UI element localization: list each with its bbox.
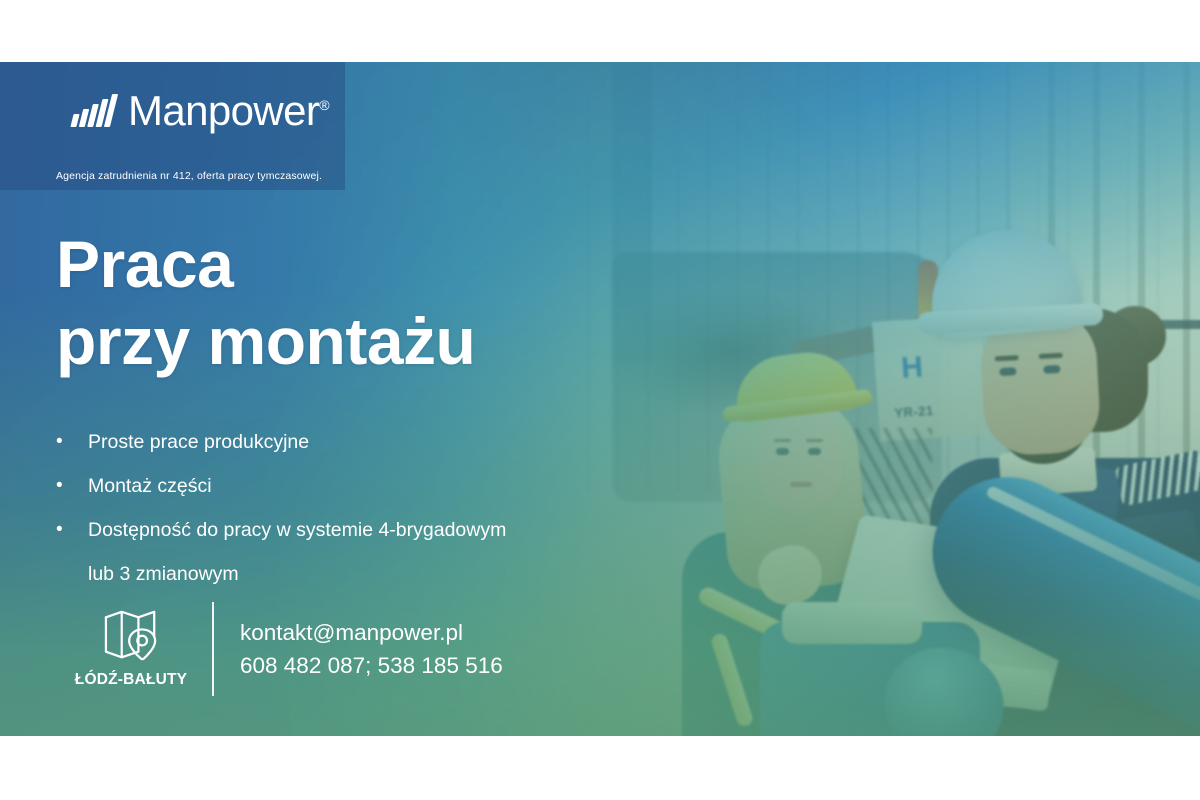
location-block: ŁÓDŹ-BAŁUTY [56, 609, 206, 689]
logo-wordmark: Manpower® [128, 90, 329, 132]
bullet-marker-icon: • [56, 464, 88, 508]
headline-line-2: przy montażu [56, 303, 475, 380]
contact-footer: ŁÓDŹ-BAŁUTY kontakt@manpower.pl 608 482 … [56, 602, 503, 696]
bullet-marker-icon: • [56, 420, 88, 464]
list-item-label: Proste prace produkcyjne [88, 420, 309, 464]
list-item: • Dostępność do pracy w systemie 4-bryga… [56, 508, 616, 596]
registered-trademark-icon: ® [319, 97, 329, 113]
manpower-logo[interactable]: Manpower® [72, 90, 329, 132]
bullet-marker-icon: • [56, 508, 88, 552]
list-item: • Proste prace produkcyjne [56, 420, 616, 464]
map-pin-icon [103, 609, 159, 661]
page-title: Praca przy montażu [56, 226, 475, 380]
job-offer-banner: H YR-21 [0, 62, 1200, 736]
headline-line-1: Praca [56, 226, 475, 303]
job-requirements-list: • Proste prace produkcyjne • Montaż częś… [56, 420, 616, 596]
list-item-label: Dostępność do pracy w systemie 4-brygado… [88, 508, 506, 596]
logo-wordmark-text: Manpower [128, 87, 319, 134]
contact-divider [212, 602, 214, 696]
contact-details: kontakt@manpower.pl 608 482 087; 538 185… [240, 616, 503, 682]
logo-plate: Manpower® Agencja zatrudnienia nr 412, o… [0, 62, 345, 190]
city-label: ŁÓDŹ-BAŁUTY [75, 671, 187, 689]
contact-email[interactable]: kontakt@manpower.pl [240, 616, 503, 649]
contact-phones[interactable]: 608 482 087; 538 185 516 [240, 649, 503, 682]
list-item-label: Montaż części [88, 464, 212, 508]
agency-disclaimer: Agencja zatrudnienia nr 412, oferta prac… [56, 170, 322, 182]
list-item: • Montaż części [56, 464, 616, 508]
poster-page: H YR-21 [0, 0, 1200, 800]
manpower-bars-icon [72, 95, 114, 127]
